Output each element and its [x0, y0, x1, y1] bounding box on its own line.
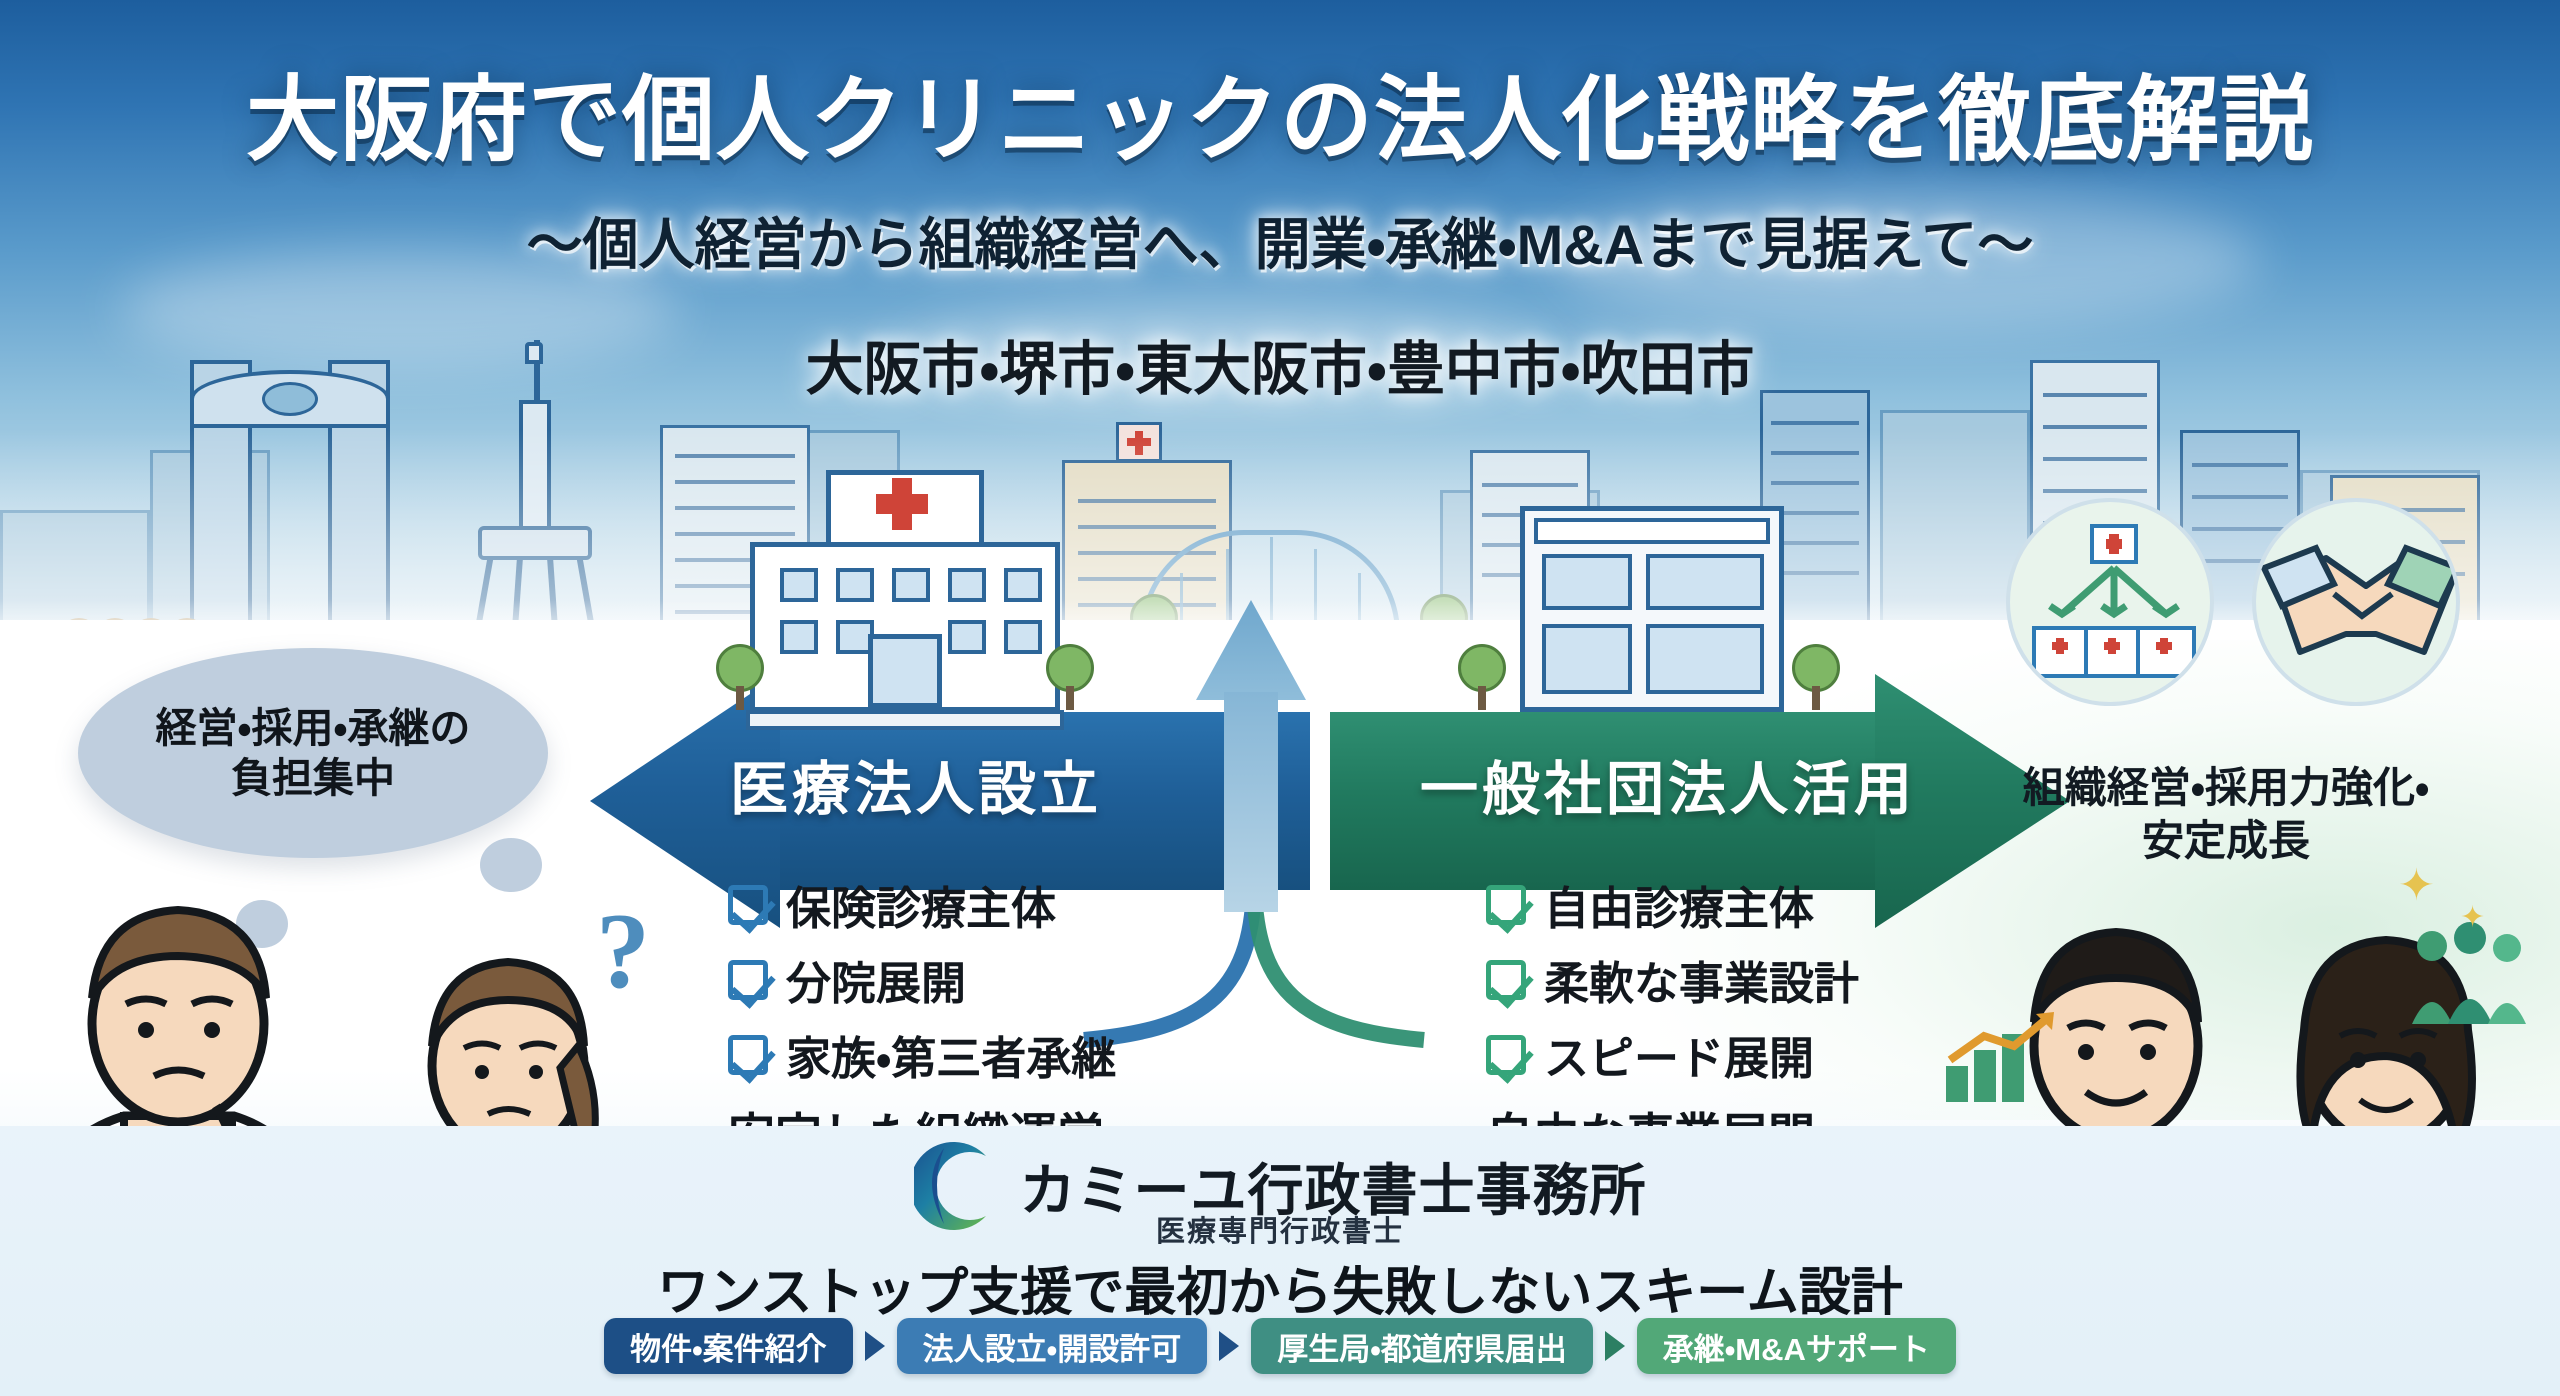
infographic-poster: 大阪府で個人クリニックの法人化戦略を徹底解説 〜個人経営から組織経営へ、開業・承… — [0, 0, 2560, 1396]
chevron-right-icon — [1219, 1331, 1239, 1361]
process-step-4[interactable]: 承継・M&Aサポート — [1637, 1318, 1956, 1374]
process-step-3[interactable]: 厚生局・都道府県届出 — [1251, 1318, 1593, 1374]
up-arrow-icon — [1196, 600, 1306, 910]
process-step-2[interactable]: 法人設立・開設許可 — [897, 1318, 1208, 1374]
checkbox-checked-icon — [728, 885, 768, 925]
list-item: 保険診療主体 — [728, 872, 1328, 937]
tree-icon — [1458, 644, 1506, 710]
tree-icon — [1792, 644, 1840, 710]
list-item: 柔軟な事業設計 — [1486, 947, 2086, 1012]
tree-icon — [716, 644, 764, 710]
hospital-building-icon — [740, 470, 1070, 730]
checkbox-checked-icon — [1486, 1035, 1526, 1075]
tree-icon — [1046, 644, 1094, 710]
outcome-line-2: 安定成長 — [1966, 815, 2486, 868]
checkbox-checked-icon — [1486, 885, 1526, 925]
chevron-right-icon — [865, 1331, 885, 1361]
footer-tagline: ワンストップ支援で最初から失敗しないスキーム設計 — [0, 1250, 2560, 1325]
modern-clinic-building-icon — [1500, 470, 1800, 730]
chevron-right-icon — [1605, 1331, 1625, 1361]
right-path-banner: 一般社団法人活用 — [1420, 742, 1916, 826]
list-item: 家族・第三者承継 — [728, 1022, 1328, 1087]
page-title: 大阪府で個人クリニックの法人化戦略を徹底解説 — [0, 44, 2560, 179]
left-path-benefits: 保険診療主体 分院展開 家族・第三者承継 安定した組織運営 — [728, 872, 1328, 1166]
handshake-icon — [2252, 498, 2460, 706]
pain-point-bubble: 経営・採用・承継の 負担集中 — [78, 648, 548, 858]
team-people-icon — [2408, 920, 2528, 1030]
benefit-label: 柔軟な事業設計 — [1544, 947, 1859, 1012]
checkbox-checked-icon — [728, 1035, 768, 1075]
checkbox-checked-icon — [728, 960, 768, 1000]
process-steps: 物件・案件紹介 法人設立・開設許可 厚生局・都道府県届出 承継・M&Aサポート — [0, 1318, 2560, 1374]
sparkle-icon: ✦ — [2398, 860, 2435, 911]
branch-network-icon — [2006, 498, 2214, 706]
left-path-banner: 医療法人設立 — [730, 742, 1102, 826]
target-cities: 大阪市・堺市・東大阪市・豊中市・吹田市 — [0, 322, 2560, 406]
list-item: スピード展開 — [1486, 1022, 2086, 1087]
outcome-text: 組織経営・採用力強化・ 安定成長 — [1966, 762, 2486, 867]
outcome-line-1: 組織経営・採用力強化・ — [1966, 762, 2486, 815]
page-subtitle: 〜個人経営から組織経営へ、開業・承継・M&Aまで見据えて〜 — [0, 200, 2560, 281]
brand-subtitle: 医療専門行政書士 — [0, 1208, 2560, 1250]
benefit-label: 家族・第三者承継 — [786, 1022, 1116, 1087]
bubble-tail-dot-large — [480, 838, 542, 892]
checkbox-checked-icon — [1486, 960, 1526, 1000]
benefit-label: 自由診療主体 — [1544, 872, 1814, 937]
benefit-label: スピード展開 — [1544, 1022, 1814, 1087]
benefit-label: 保険診療主体 — [786, 872, 1056, 937]
right-path-benefits: 自由診療主体 柔軟な事業設計 スピード展開 自由な事業展開 — [1486, 872, 2086, 1166]
list-item: 分院展開 — [728, 947, 1328, 1012]
pain-line-2: 負担集中 — [231, 753, 395, 803]
pain-line-1: 経営・採用・承継の — [156, 703, 471, 753]
sparkle-icon: ✦ — [2460, 900, 2485, 935]
list-item: 自由診療主体 — [1486, 872, 2086, 937]
benefit-label: 分院展開 — [786, 947, 966, 1012]
process-step-1[interactable]: 物件・案件紹介 — [604, 1318, 853, 1374]
